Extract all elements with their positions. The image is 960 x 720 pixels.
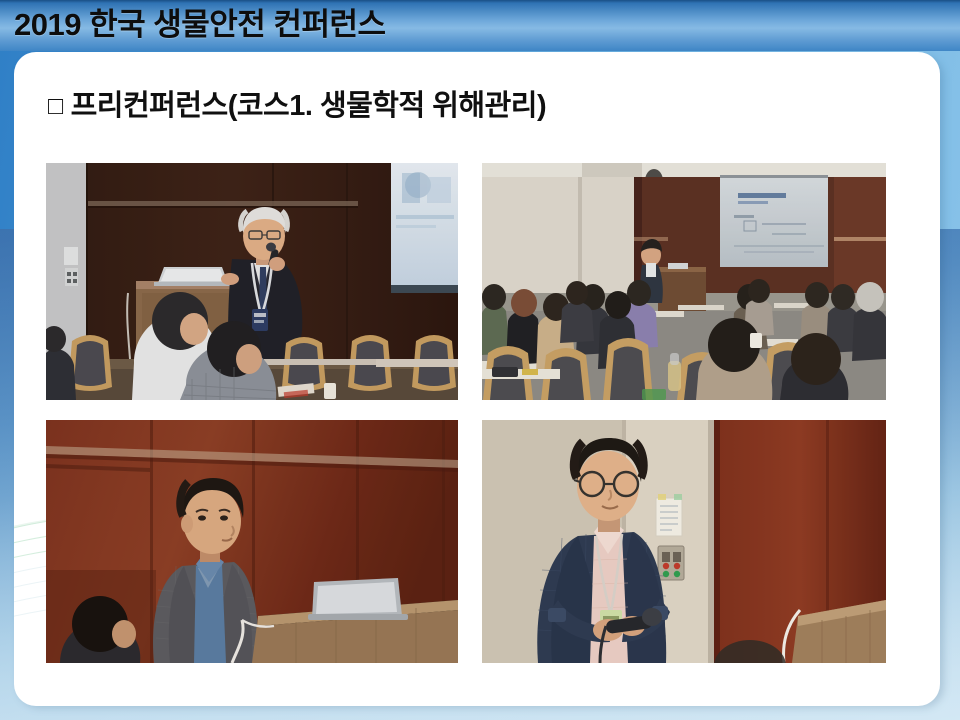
content-card: □프리컨퍼런스(코스1. 생물학적 위해관리) (14, 52, 940, 706)
slide-subtitle: □프리컨퍼런스(코스1. 생물학적 위해관리) (48, 82, 546, 124)
photo-speaker-microphone (482, 420, 886, 663)
photo-speaker-podium (46, 420, 458, 663)
photo-audience-room (482, 163, 886, 400)
photo-presenter-microphone (46, 163, 458, 400)
page-title: 2019 한국 생물안전 컨퍼런스 (14, 5, 386, 45)
square-bullet-icon: □ (48, 92, 63, 120)
photo-grid (46, 163, 886, 663)
slide-subtitle-text: 프리컨퍼런스(코스1. 생물학적 위해관리) (71, 90, 547, 122)
presentation-slide: 2019 한국 생물안전 컨퍼런스 □프리컨퍼런스(코스1. 생물학적 위해관리… (0, 0, 960, 720)
